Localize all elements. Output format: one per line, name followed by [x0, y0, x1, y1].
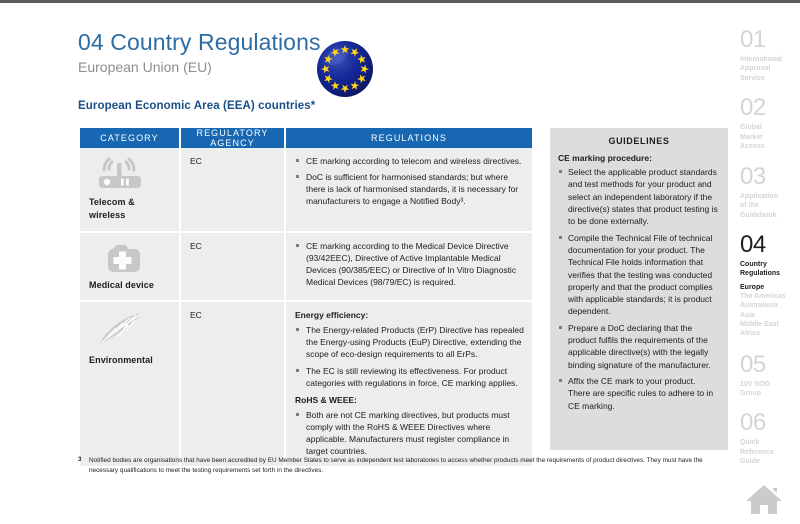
guidelines-list: Select the applicable product standards …	[558, 166, 719, 412]
category-label: Telecom & wireless	[89, 196, 171, 222]
category-cell: Medical device	[80, 232, 180, 302]
sidebar-label-line: Access	[740, 143, 765, 150]
agency-cell: EC	[180, 148, 285, 232]
list-item: Prepare a DoC declaring that the product…	[558, 322, 719, 371]
sidebar-subitem-middle-east[interactable]: Middle East	[740, 320, 798, 329]
list-item: Select the applicable product standards …	[558, 166, 719, 228]
table-row: Medical device EC CE marking according t…	[80, 232, 532, 302]
sidebar-label: Country Regulations	[740, 260, 798, 279]
sidebar-subitem-the-americas[interactable]: The Americas	[740, 292, 798, 301]
list-item: The EC is still reviewing its effectiven…	[295, 365, 524, 389]
guidelines-body: CE marking procedure: Select the applica…	[550, 153, 728, 412]
sidebar-label-line: 10V SOO	[740, 381, 770, 388]
regulation-subheading: Energy efficiency:	[295, 309, 524, 321]
eu-flag-sphere-icon	[312, 36, 378, 102]
regulation-list: CE marking according to the Medical Devi…	[295, 240, 524, 288]
guidelines-panel: GUIDELINES CE marking procedure: Select …	[550, 128, 728, 450]
sidebar-label-line: Regulations	[740, 270, 780, 277]
footnote: 3 Notified bodies are organisations that…	[78, 456, 730, 476]
column-header-regulations: REGULATIONS	[285, 128, 532, 148]
medical-cross-bag-icon	[95, 242, 147, 274]
wireless-router-icon	[95, 157, 147, 191]
sidebar-number: 05	[740, 353, 798, 377]
sidebar-sublist: Europe The Americas Australasia Asia Mid…	[740, 283, 798, 339]
regulations-cell: CE marking according to telecom and wire…	[285, 148, 532, 232]
guidelines-title: GUIDELINES	[550, 136, 728, 146]
sidebar-label-line: Quick	[740, 439, 759, 446]
sidebar-label-line: Market	[740, 134, 763, 141]
column-header-category: CATEGORY	[80, 128, 180, 148]
sidebar-label-line: Approval	[740, 65, 770, 72]
sidebar-item-01[interactable]: 01 International Approval Service	[740, 28, 798, 83]
page-header: 04 Country Regulations European Union (E…	[78, 30, 478, 76]
sidebar-nav: 01 International Approval Service 02 Glo…	[740, 28, 798, 480]
table-row: Environmental EC Energy efficiency: The …	[80, 301, 532, 467]
category-cell: Telecom & wireless	[80, 148, 180, 232]
regulation-list: The Energy-related Products (ErP) Direct…	[295, 324, 524, 388]
regulations-cell: Energy efficiency: The Energy-related Pr…	[285, 301, 532, 467]
sidebar-label-line: International	[740, 56, 782, 63]
list-item: CE marking according to the Medical Devi…	[295, 240, 524, 288]
sidebar-label: 10V SOO Group	[740, 380, 798, 399]
list-item: Both are not CE marking directives, but …	[295, 409, 524, 457]
regulation-subheading: RoHS & WEEE:	[295, 394, 524, 406]
sidebar-label-line: Application	[740, 193, 778, 200]
regulation-list: CE marking according to telecom and wire…	[295, 155, 524, 207]
sidebar-item-03[interactable]: 03 Application of the Guidebook	[740, 165, 798, 220]
sidebar-label: International Approval Service	[740, 55, 798, 83]
category-label: Environmental	[89, 354, 171, 367]
sidebar-label-line: Guide	[740, 458, 760, 465]
sidebar-item-04[interactable]: 04 Country Regulations Europe The Americ…	[740, 233, 798, 339]
top-rule	[0, 0, 800, 3]
sidebar-number: 02	[740, 96, 798, 120]
regulations-cell: CE marking according to the Medical Devi…	[285, 232, 532, 302]
footnote-marker: 3	[78, 456, 81, 465]
sidebar-label-line: Group	[740, 390, 761, 397]
home-icon[interactable]	[744, 482, 784, 516]
table-header-row: CATEGORY REGULATORY AGENCY REGULATIONS	[80, 128, 532, 148]
column-header-agency: REGULATORY AGENCY	[180, 128, 285, 148]
sidebar-item-06[interactable]: 06 Quick Reference Guide	[740, 411, 798, 466]
sidebar-item-02[interactable]: 02 Global Market Access	[740, 96, 798, 151]
sidebar-item-05[interactable]: 05 10V SOO Group	[740, 353, 798, 399]
sidebar-subitem-asia[interactable]: Asia	[740, 311, 798, 320]
category-cell: Environmental	[80, 301, 180, 467]
guidelines-subheading: CE marking procedure:	[558, 153, 719, 163]
footnote-text: Notified bodies are organisations that h…	[78, 456, 730, 476]
sidebar-label: Application of the Guidebook	[740, 192, 798, 220]
section-label: European Economic Area (EEA) countries*	[78, 100, 315, 112]
list-item: CE marking according to telecom and wire…	[295, 155, 524, 167]
agency-cell: EC	[180, 301, 285, 467]
document-page: 04 Country Regulations European Union (E…	[0, 0, 800, 524]
sidebar-number: 01	[740, 28, 798, 52]
sidebar-number: 04	[740, 233, 798, 257]
page-subtitle: European Union (EU)	[78, 60, 478, 75]
sidebar-number: 03	[740, 165, 798, 189]
sidebar-label: Global Market Access	[740, 123, 798, 151]
fern-leaf-icon	[95, 311, 149, 349]
regulation-list: Both are not CE marking directives, but …	[295, 409, 524, 457]
sidebar-label-line: Guidebook	[740, 212, 777, 219]
sidebar-label-line: Global	[740, 124, 762, 131]
list-item: The Energy-related Products (ErP) Direct…	[295, 324, 524, 360]
table-row: Telecom & wireless EC CE marking accordi…	[80, 148, 532, 232]
sidebar-subitem-australasia[interactable]: Australasia	[740, 301, 798, 310]
list-item: Compile the Technical File of technical …	[558, 232, 719, 318]
sidebar-label-line: Service	[740, 75, 765, 82]
sidebar-number: 06	[740, 411, 798, 435]
regulations-table: CATEGORY REGULATORY AGENCY REGULATIONS	[80, 128, 532, 468]
sidebar-subitem-europe[interactable]: Europe	[740, 283, 798, 292]
list-item: DoC is sufficient for harmonised standar…	[295, 171, 524, 207]
agency-cell: EC	[180, 232, 285, 302]
page-title: 04 Country Regulations	[78, 30, 478, 55]
list-item: Affix the CE mark to your product. There…	[558, 375, 719, 412]
sidebar-label: Quick Reference Guide	[740, 438, 798, 466]
sidebar-label-line: of the	[740, 202, 759, 209]
sidebar-label-line: Reference	[740, 449, 774, 456]
sidebar-label-line: Country	[740, 261, 767, 268]
category-label: Medical device	[89, 279, 171, 292]
sidebar-subitem-africa[interactable]: Africa	[740, 329, 798, 338]
